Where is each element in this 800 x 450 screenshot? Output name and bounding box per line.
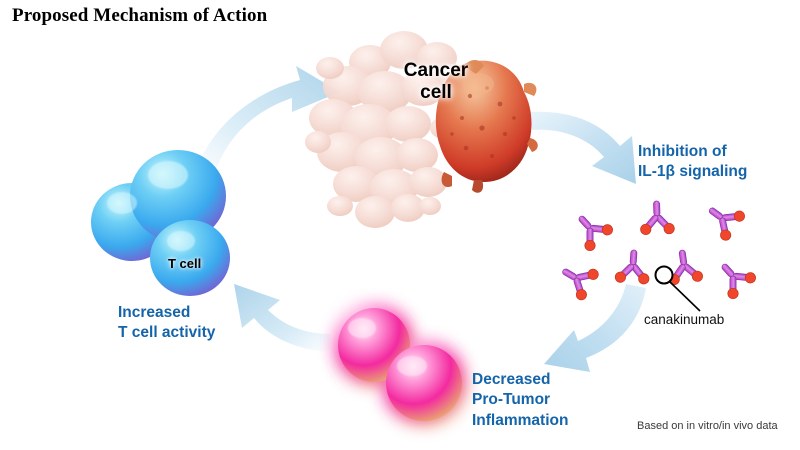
antibody-2 (637, 200, 676, 237)
t-cell-cluster (91, 150, 230, 296)
arrow-inhibition-to-inflammation (544, 284, 646, 372)
arrow-cancer-to-inhibition (530, 112, 636, 184)
label-decreased-pro-tumor-inflammation: Decreased Pro-Tumor Inflammation (472, 370, 568, 431)
label-increased-t-cell-activity: Increased T cell activity (118, 303, 215, 344)
antibody-6 (663, 247, 706, 287)
canakinumab-callout (656, 267, 701, 312)
arrow-tcell-to-cancer (196, 66, 340, 176)
label-t-cell: T cell (168, 256, 201, 271)
antibody-3 (699, 194, 750, 246)
label-canakinumab: canakinumab (644, 312, 724, 327)
mechanism-of-action-diagram: Proposed Mechanism of Action (0, 0, 800, 450)
antibody-7 (709, 252, 761, 304)
data-source-footnote: Based on in vitro/in vivo data (637, 420, 778, 432)
inflammation-cell-pair (338, 308, 462, 421)
label-cancer-cell: Cancer cell (380, 60, 492, 104)
arrow-inflammation-to-tcell (234, 284, 330, 352)
antibody-4 (553, 254, 603, 305)
antibody-5 (613, 249, 653, 287)
page-title: Proposed Mechanism of Action (12, 5, 267, 27)
antibody-1 (566, 204, 618, 256)
label-il1b-inhibition: Inhibition of IL-1β signaling (638, 142, 747, 183)
